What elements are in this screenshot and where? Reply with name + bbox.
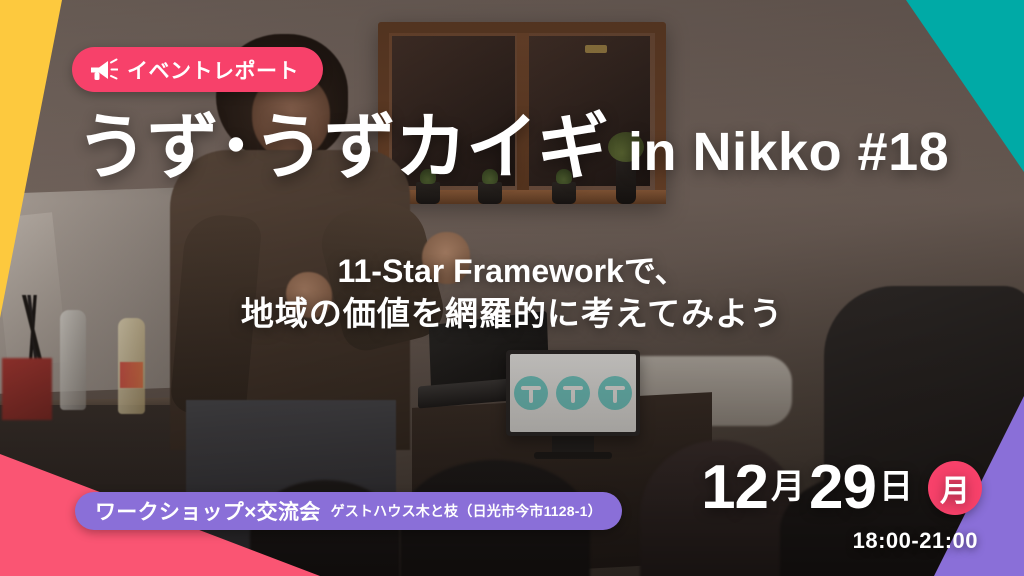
poster-content: イベントレポート うず･うずカイギ in Nikko #18 11-Star F… — [0, 0, 1024, 576]
month-number: 12 — [701, 457, 768, 519]
event-poster: イベントレポート うず･うずカイギ in Nikko #18 11-Star F… — [0, 0, 1024, 576]
subtitle-line-2: 地域の価値を網羅的に考えてみよう — [0, 292, 1024, 336]
poster-subtitle: 11-Star Frameworkで、 地域の価値を網羅的に考えてみよう — [0, 250, 1024, 336]
megaphone-icon — [90, 58, 118, 82]
date-line: 12 月 29 日 月 — [701, 457, 982, 519]
event-type-label: ワークショップ×交流会 — [95, 496, 321, 526]
event-report-badge: イベントレポート — [72, 47, 323, 92]
day-number: 29 — [809, 457, 876, 519]
weekday-badge: 月 — [928, 461, 982, 515]
title-japanese: うず･うずカイギ — [76, 112, 608, 184]
poster-title: うず･うずカイギ in Nikko #18 — [76, 112, 949, 184]
day-unit: 日 — [878, 470, 915, 506]
title-english: in Nikko #18 — [628, 124, 949, 184]
event-report-label: イベントレポート — [127, 55, 299, 85]
venue-pill: ワークショップ×交流会 ゲストハウス木と枝（日光市今市1128-1） — [75, 492, 622, 530]
subtitle-line-1: 11-Star Frameworkで、 — [0, 250, 1024, 292]
venue-location-label: ゲストハウス木と枝（日光市今市1128-1） — [331, 501, 602, 521]
month-unit: 月 — [770, 470, 807, 506]
event-time: 18:00-21:00 — [701, 528, 978, 554]
date-block: 12 月 29 日 月 18:00-21:00 — [701, 457, 982, 554]
